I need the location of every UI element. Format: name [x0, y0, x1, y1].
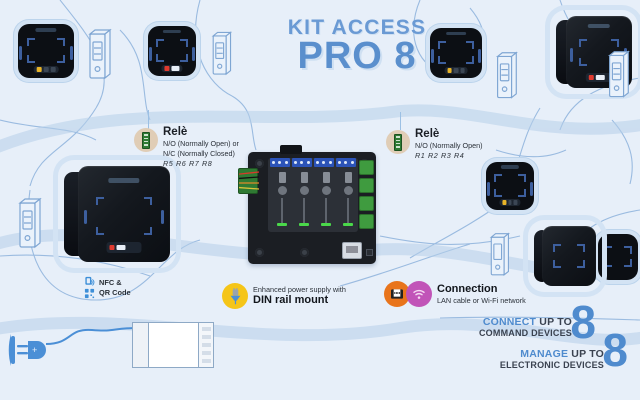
callout-relay-codes: R1 R2 R3 R4 [415, 151, 483, 161]
mount-screw [255, 248, 264, 257]
manage-verb: MANAGE [520, 348, 568, 360]
mount-screw [300, 248, 309, 257]
electric-strike-lock-2 [208, 30, 234, 80]
relay-terminal-left[interactable] [238, 168, 258, 194]
electric-strike-lock-3 [14, 196, 44, 254]
relay-terminal-icon [134, 128, 158, 152]
status-led-bar [499, 199, 520, 205]
brand-logo [108, 178, 139, 184]
nfc-icon [84, 276, 95, 287]
scan-brackets-icon [96, 197, 151, 235]
device-front-face [78, 166, 170, 262]
manage-count-value: 8 [602, 332, 628, 370]
relay-channel-2 [294, 170, 314, 230]
svg-text:+: + [32, 345, 37, 355]
relay-channel-4 [338, 170, 358, 230]
electric-strike-lock-1 [84, 28, 114, 84]
callout-line-1: N/O (Normally Open) [415, 141, 483, 151]
relay-header-ch3[interactable] [314, 158, 334, 167]
status-led-bar [161, 65, 182, 72]
callout-relay-left: Relè N/O (Normally Open) or N/C (Normall… [134, 126, 254, 168]
connect-counter-row: CONNECT UP TO COMMAND DEVICES [479, 316, 572, 338]
card-reader-right-mid[interactable] [486, 162, 534, 210]
capacity-counters: 8 8 CONNECT UP TO COMMAND DEVICES MANAGE… [466, 308, 634, 388]
manage-counter-row: MANAGE UP TO ELECTRONIC DEVICES [500, 348, 604, 370]
relay-header-ch4[interactable] [336, 158, 356, 167]
relay-header-ch2[interactable] [292, 158, 312, 167]
infographic-canvas: KIT ACCESS PRO 8 [0, 0, 640, 400]
status-led-bar [34, 66, 59, 73]
nfc-label: NFC & [99, 278, 131, 288]
din-rail-power-supply[interactable] [132, 322, 214, 368]
relay-module [268, 158, 358, 232]
relay-terminal-icon [386, 130, 410, 154]
psu-left-panel [133, 323, 149, 367]
connection-feature: Connection LAN cable or Wi-Fi network [384, 281, 526, 307]
relay-output-terminal-3[interactable] [359, 196, 374, 211]
scan-brackets-icon [156, 39, 189, 62]
scan-brackets-icon [494, 174, 527, 196]
board-chip [366, 249, 373, 256]
power-plug-icon [222, 283, 248, 309]
device-front-face [542, 226, 596, 286]
card-reader-bottom-right[interactable] [598, 234, 638, 280]
relay-channel-1 [272, 170, 292, 230]
card-reader-top-mid[interactable] [148, 26, 196, 76]
qr-code-label: QR Code [99, 288, 131, 298]
scan-brackets-icon [604, 246, 631, 267]
nfc-qr-feature: NFC & QR Code [84, 276, 131, 299]
card-reader-top-right-a[interactable] [430, 28, 482, 78]
card-reader-bottom-right-hero[interactable] [534, 226, 596, 286]
psu-body [149, 323, 198, 367]
brand-logo [163, 30, 181, 34]
electric-strike-lock-6 [486, 232, 512, 280]
relay-channel-3 [316, 170, 336, 230]
connect-count-value: 8 [570, 304, 596, 342]
connect-verb: CONNECT [483, 316, 536, 328]
electric-strike-lock-4 [492, 50, 520, 104]
callout-line-2: N/C (Normally Closed) [163, 149, 239, 159]
callout-title: Relè [163, 126, 239, 139]
wifi-icon [406, 281, 432, 307]
relay-output-terminal-1[interactable] [359, 160, 374, 175]
power-cable [46, 326, 138, 360]
brand-logo [35, 28, 56, 32]
relay-header-strip[interactable] [268, 158, 358, 167]
power-feature-subtitle: Enhanced power supply with [253, 285, 346, 294]
scan-brackets-icon [438, 41, 473, 64]
callout-title: Relè [415, 128, 483, 141]
card-reader-top-left[interactable] [18, 24, 74, 78]
connection-title: Connection [437, 283, 526, 297]
ethernet-port[interactable] [342, 242, 362, 259]
connect-subject: COMMAND DEVICES [479, 328, 572, 338]
scan-brackets-icon [553, 244, 585, 268]
wire-bundle-icon [239, 169, 259, 195]
status-led-bar [106, 242, 141, 254]
card-reader-hero-left[interactable] [64, 166, 170, 262]
power-feature-title: DIN rail mount [253, 294, 346, 307]
access-control-board[interactable] [248, 152, 376, 264]
brand-logo [446, 32, 466, 36]
scan-brackets-icon [27, 38, 65, 63]
brand-logo [588, 24, 610, 28]
connection-subtitle: LAN cable or Wi-Fi network [437, 296, 526, 305]
qr-code-icon [84, 288, 95, 299]
status-led-bar [445, 67, 468, 74]
manage-subject: ELECTRONIC DEVICES [500, 360, 604, 370]
electric-strike-lock-5 [604, 48, 632, 104]
power-supply-feature: Enhanced power supply with DIN rail moun… [222, 283, 346, 309]
connect-upto: UP TO [536, 316, 572, 328]
callout-line-1: N/O (Normally Open) or [163, 139, 239, 149]
brand-logo [501, 165, 519, 168]
relay-output-terminal-4[interactable] [359, 214, 374, 229]
callout-relay-right: Relè N/O (Normally Open) R1 R2 R3 R4 [386, 128, 502, 161]
psu-terminal-block[interactable] [198, 323, 213, 367]
board-top-connector [280, 145, 302, 154]
relay-output-terminal-2[interactable] [359, 178, 374, 193]
callout-relay-codes: R5 R6 R7 R8 [163, 159, 239, 169]
mount-screw [255, 159, 264, 168]
manage-upto: UP TO [568, 348, 604, 360]
relay-header-ch1[interactable] [270, 158, 290, 167]
